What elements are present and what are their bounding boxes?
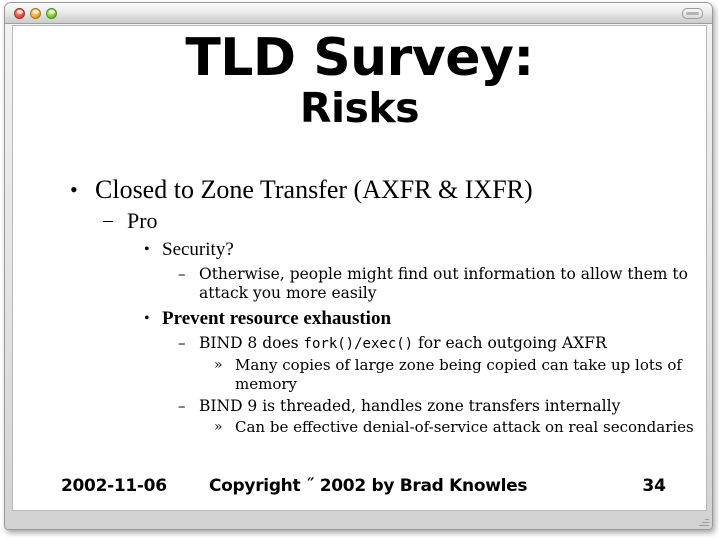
bullet-level2: – Pro xyxy=(13,207,707,234)
presentation-window: TLD Survey: Risks • Closed to Zone Trans… xyxy=(4,2,713,530)
bullet-marker-icon: • xyxy=(70,174,78,205)
bullet-text: Can be effective denial-of-service attac… xyxy=(235,418,707,437)
dash-marker-icon: – xyxy=(178,397,186,416)
footer-date: 2002-11-06 xyxy=(61,476,167,496)
bullet-level3: • Security? xyxy=(13,238,707,262)
dash-marker-icon: – xyxy=(103,207,113,234)
bullet-level4: – BIND 9 is threaded, handles zone trans… xyxy=(13,397,707,416)
bullet-level4-code: – BIND 8 does fork()/exec() for each out… xyxy=(13,334,707,354)
bullet-text: Prevent resource exhaustion xyxy=(162,307,707,331)
bullet-marker-icon: • xyxy=(144,307,150,331)
bullet-text: Pro xyxy=(127,207,707,234)
minimize-button[interactable] xyxy=(30,8,41,19)
bullet-text: BIND 9 is threaded, handles zone transfe… xyxy=(199,397,707,416)
slide-title-main: TLD Survey: xyxy=(13,30,706,86)
bullet-text: Many copies of large zone being copied c… xyxy=(235,356,707,394)
toolbar-toggle-button[interactable] xyxy=(682,8,703,19)
dash-marker-icon: – xyxy=(178,265,186,284)
bullet-level4: – Otherwise, people might find out infor… xyxy=(13,265,707,303)
bullet-text: BIND 8 does fork()/exec() for each outgo… xyxy=(199,334,707,354)
bullet-text: Security? xyxy=(162,238,707,262)
slide-footer: 2002-11-06 Copyright ˝ 2002 by Brad Know… xyxy=(13,476,707,498)
window-titlebar[interactable] xyxy=(5,3,712,24)
bullet-text-after: for each outgoing AXFR xyxy=(413,334,607,352)
bullet-marker-icon: • xyxy=(144,238,150,262)
slide-title: TLD Survey: Risks xyxy=(13,30,706,130)
close-button[interactable] xyxy=(14,8,25,19)
guillemet-marker-icon: » xyxy=(214,418,223,437)
zoom-button[interactable] xyxy=(46,8,57,19)
bullet-text: Otherwise, people might find out informa… xyxy=(199,265,707,303)
guillemet-marker-icon: » xyxy=(214,356,223,375)
bullet-level5: » Many copies of large zone being copied… xyxy=(13,356,707,394)
footer-copyright: Copyright ˝ 2002 by Brad Knowles xyxy=(209,476,527,496)
resize-grip[interactable] xyxy=(697,515,710,528)
bullet-level5: » Can be effective denial-of-service att… xyxy=(13,418,707,437)
slide-title-sub: Risks xyxy=(13,86,706,130)
bullet-text-before: BIND 8 does xyxy=(199,334,304,352)
footer-page-number: 34 xyxy=(642,476,666,496)
dash-marker-icon: – xyxy=(178,334,186,353)
bullet-level3: • Prevent resource exhaustion xyxy=(13,307,707,331)
slide-canvas: TLD Survey: Risks • Closed to Zone Trans… xyxy=(12,25,707,511)
slide-body: • Closed to Zone Transfer (AXFR & IXFR) … xyxy=(13,174,707,437)
code-snippet: fork()/exec() xyxy=(304,336,414,352)
bullet-level1: • Closed to Zone Transfer (AXFR & IXFR) xyxy=(13,174,707,205)
bullet-text: Closed to Zone Transfer (AXFR & IXFR) xyxy=(95,174,707,205)
